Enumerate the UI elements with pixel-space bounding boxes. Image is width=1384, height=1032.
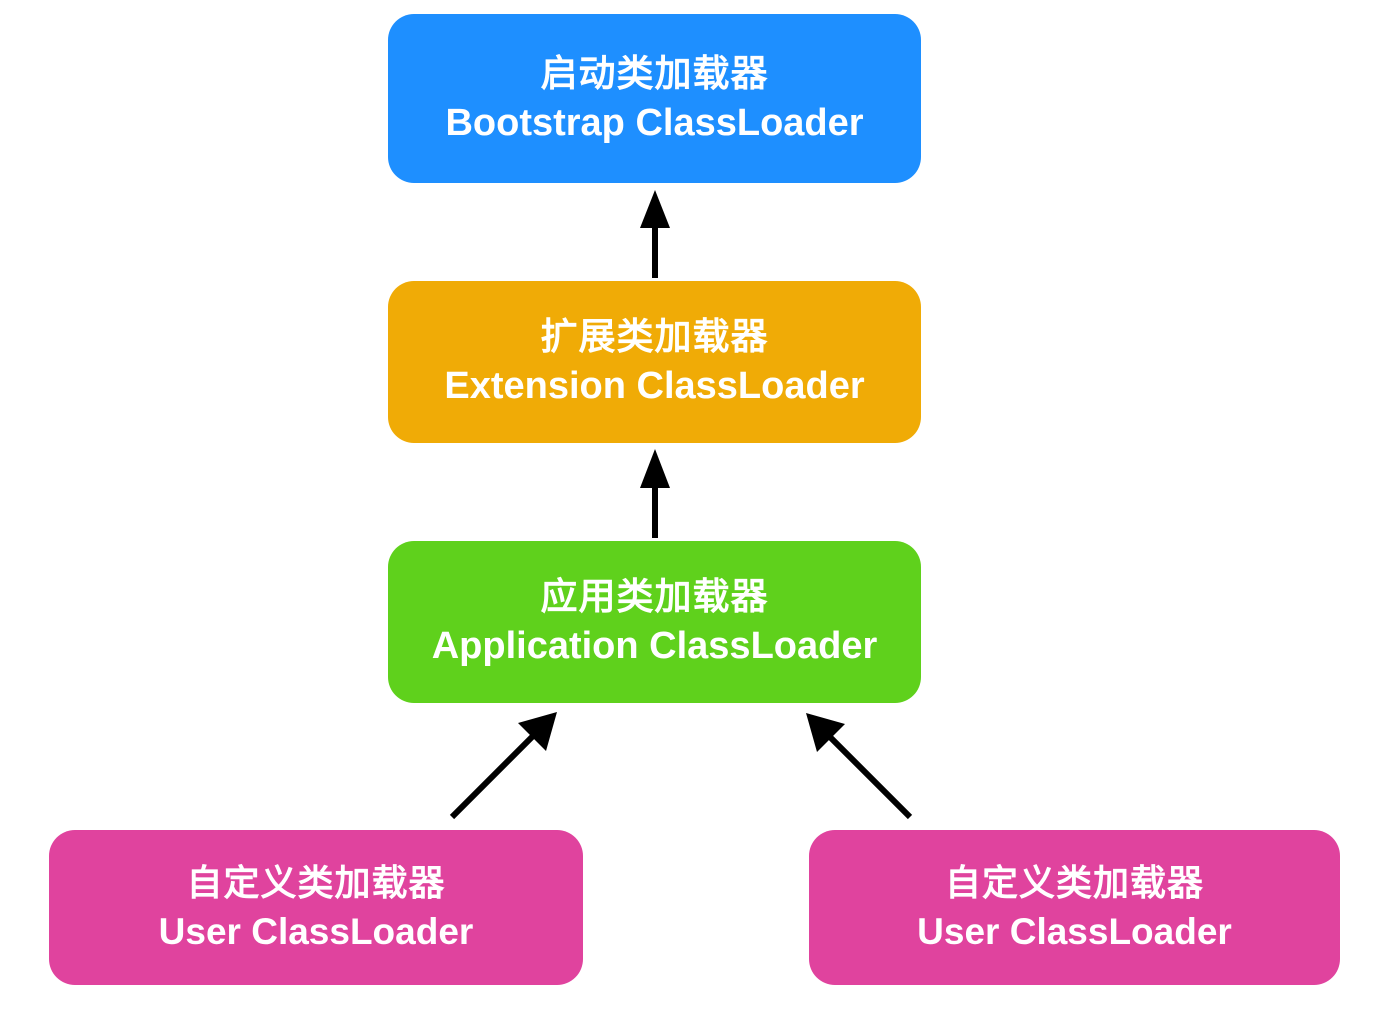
node-application-label-en: Application ClassLoader bbox=[432, 623, 878, 669]
node-user-left-label-en: User ClassLoader bbox=[159, 909, 474, 954]
node-application-label-cn: 应用类加载器 bbox=[541, 574, 769, 619]
node-user-classloader-right[interactable]: 自定义类加载器 User ClassLoader bbox=[809, 830, 1340, 985]
node-application-classloader[interactable]: 应用类加载器 Application ClassLoader bbox=[388, 541, 921, 703]
node-extension-label-cn: 扩展类加载器 bbox=[541, 314, 769, 359]
node-extension-classloader[interactable]: 扩展类加载器 Extension ClassLoader bbox=[388, 281, 921, 443]
node-user-right-label-en: User ClassLoader bbox=[917, 909, 1232, 954]
edge-user-left-to-application bbox=[452, 712, 557, 817]
edge-user-right-to-application bbox=[806, 713, 910, 817]
node-user-right-label-cn: 自定义类加载器 bbox=[945, 861, 1204, 905]
node-user-left-label-cn: 自定义类加载器 bbox=[186, 861, 445, 905]
node-bootstrap-label-en: Bootstrap ClassLoader bbox=[445, 100, 863, 146]
edge-extension-to-bootstrap bbox=[640, 190, 670, 278]
node-bootstrap-label-cn: 启动类加载器 bbox=[541, 51, 769, 96]
node-user-classloader-left[interactable]: 自定义类加载器 User ClassLoader bbox=[49, 830, 583, 985]
node-bootstrap-classloader[interactable]: 启动类加载器 Bootstrap ClassLoader bbox=[388, 14, 921, 183]
node-extension-label-en: Extension ClassLoader bbox=[444, 363, 864, 409]
edge-application-to-extension bbox=[640, 449, 670, 538]
diagram-canvas: 启动类加载器 Bootstrap ClassLoader 扩展类加载器 Exte… bbox=[0, 0, 1384, 1032]
